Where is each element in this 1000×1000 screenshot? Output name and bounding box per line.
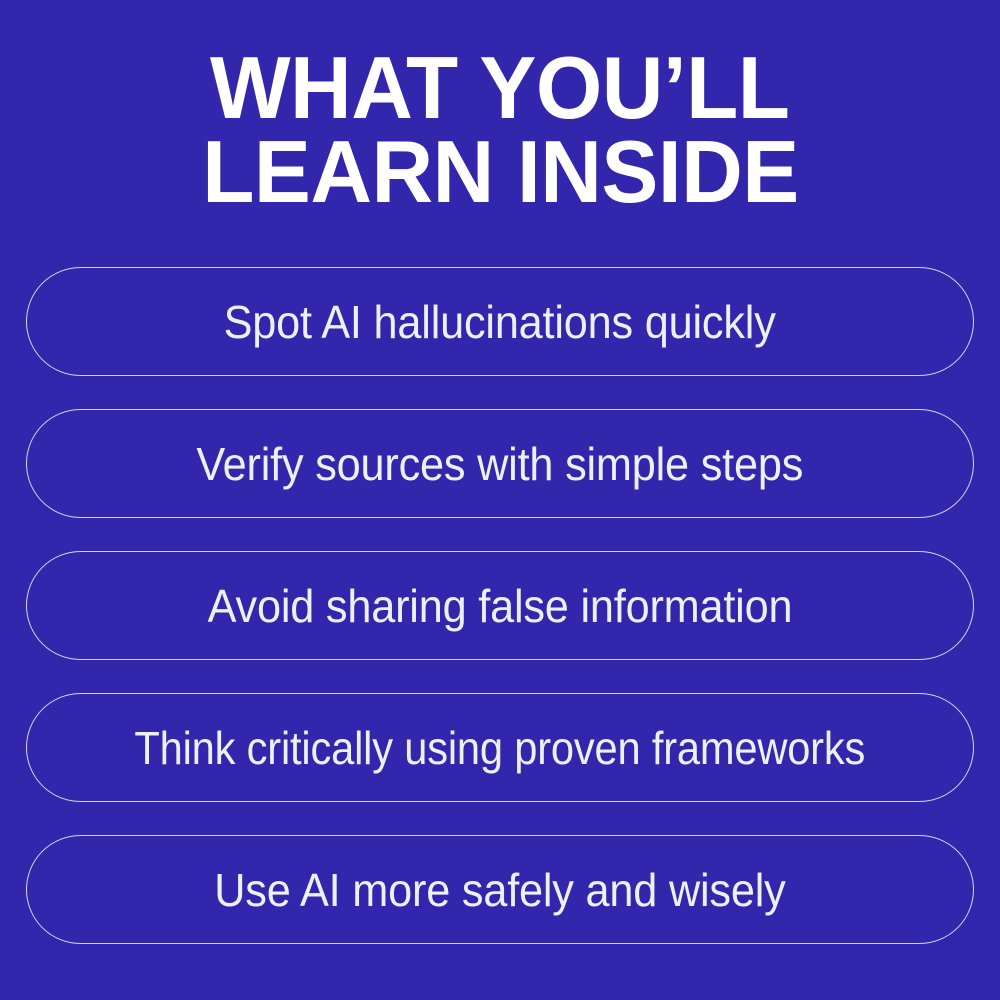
list-item-label: Think critically using proven frameworks xyxy=(135,725,866,771)
list-item-1[interactable]: Spot AI hallucinations quickly xyxy=(26,267,974,376)
list-item-label: Avoid sharing false information xyxy=(208,583,793,629)
page-title-line-1: WHAT YOU’LL xyxy=(210,46,789,130)
list-item-2[interactable]: Verify sources with simple steps xyxy=(26,409,974,518)
learning-points-list: Spot AI hallucinations quickly Verify so… xyxy=(26,267,974,944)
page-title: WHAT YOU’LL LEARN INSIDE xyxy=(0,0,1000,214)
page-title-line-2: LEARN INSIDE xyxy=(202,130,799,214)
list-item-5[interactable]: Use AI more safely and wisely xyxy=(26,835,974,944)
slide-root: WHAT YOU’LL LEARN INSIDE Spot AI halluci… xyxy=(0,0,1000,1000)
list-item-label: Use AI more safely and wisely xyxy=(214,867,785,913)
list-item-label: Verify sources with simple steps xyxy=(197,441,804,487)
list-item-label: Spot AI hallucinations quickly xyxy=(224,299,776,345)
list-item-4[interactable]: Think critically using proven frameworks xyxy=(26,693,974,802)
list-item-3[interactable]: Avoid sharing false information xyxy=(26,551,974,660)
